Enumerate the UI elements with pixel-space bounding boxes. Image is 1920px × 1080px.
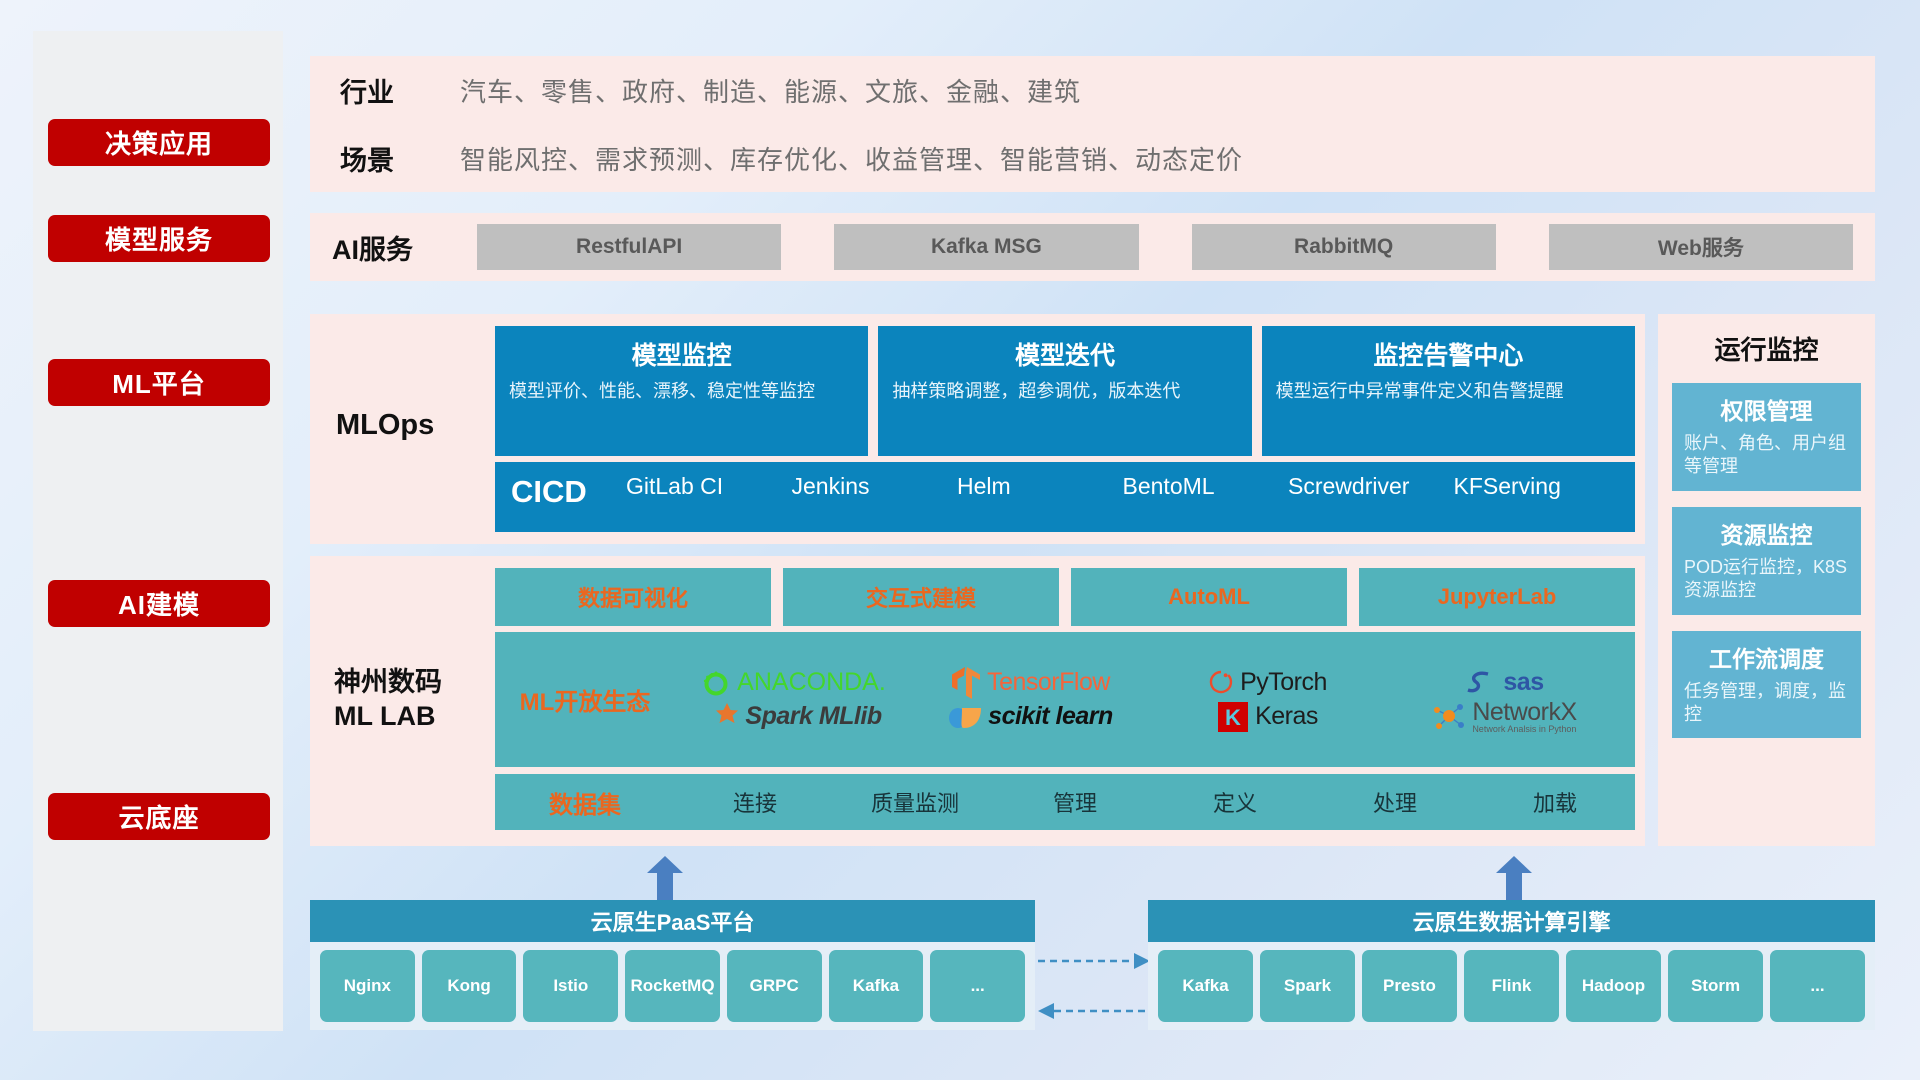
scikit-learn-label: scikit learn (988, 702, 1113, 731)
dataset-item-process[interactable]: 处理 (1315, 786, 1475, 818)
compute-chip-kafka[interactable]: Kafka (1158, 950, 1253, 1022)
keras-label: Keras (1255, 702, 1318, 731)
cloud-native-compute-title: 云原生数据计算引擎 (1148, 900, 1875, 942)
cloud-chip-nginx[interactable]: Nginx (320, 950, 415, 1022)
cloud-native-paas-group: 云原生PaaS平台 Nginx Kong Istio RocketMQ GRPC… (310, 900, 1035, 1030)
dataset-item-define[interactable]: 定义 (1155, 786, 1315, 818)
cloud-native-compute-group: 云原生数据计算引擎 Kafka Spark Presto Flink Hadoo… (1148, 900, 1875, 1030)
stage-chip-model-service[interactable]: 模型服务 (48, 215, 270, 262)
cloud-chip-kong[interactable]: Kong (422, 950, 517, 1022)
compute-chip-storm[interactable]: Storm (1668, 950, 1763, 1022)
compute-chip-spark[interactable]: Spark (1260, 950, 1355, 1022)
anaconda-label: ANACONDA. (737, 668, 886, 697)
card-title: 资源监控 (1684, 516, 1849, 550)
ml-lab-label-line1: 神州数码 (334, 666, 494, 700)
monitor-card-permission[interactable]: 权限管理 账户、角色、用户组等管理 (1672, 383, 1861, 491)
runtime-monitor-column: 运行监控 权限管理 账户、角色、用户组等管理 资源监控 POD运行监控，K8S资… (1658, 314, 1875, 846)
connector-arrow-left (1038, 1000, 1150, 1022)
card-desc: 抽样策略调整，超参调优，版本迭代 (892, 379, 1237, 403)
stage-rail (33, 31, 283, 1031)
tool-chip-jupyterlab[interactable]: JupyterLab (1359, 568, 1635, 626)
spark-mllib-label: Spark MLlib (745, 702, 881, 731)
card-title: 工作流调度 (1684, 640, 1849, 674)
cloud-chip-grpc[interactable]: GRPC (727, 950, 822, 1022)
ai-service-chip-restfulapi[interactable]: RestfulAPI (477, 224, 781, 270)
ml-lab-label-line2: ML LAB (334, 700, 494, 734)
pytorch-label: PyTorch (1240, 668, 1327, 697)
pytorch-icon (1208, 668, 1234, 698)
ai-service-band: AI服务 RestfulAPI Kafka MSG RabbitMQ Web服务 (310, 213, 1875, 281)
stage-chip-decision-app[interactable]: 决策应用 (48, 119, 270, 166)
stage-chip-ml-platform[interactable]: ML平台 (48, 359, 270, 406)
cicd-bar: CICD GitLab CI Jenkins Helm BentoML Scre… (495, 462, 1635, 532)
dataset-item-manage[interactable]: 管理 (995, 786, 1155, 818)
tensorflow-icon (951, 666, 981, 700)
cicd-item-screwdriver[interactable]: Screwdriver (1288, 474, 1454, 499)
runtime-monitor-title: 运行监控 (1658, 314, 1875, 367)
cloud-chip-kafka[interactable]: Kafka (829, 950, 924, 1022)
compute-chip-more[interactable]: ... (1770, 950, 1865, 1022)
networkx-label: NetworkX (1472, 700, 1576, 725)
cicd-item-kfserving[interactable]: KFServing (1454, 474, 1620, 499)
mlops-card-model-iteration[interactable]: 模型迭代 抽样策略调整，超参调优，版本迭代 (878, 326, 1251, 456)
dataset-bar: 数据集 连接 质量监测 管理 定义 处理 加载 (495, 774, 1635, 830)
scenario-values: 智能风控、需求预测、库存优化、收益管理、智能营销、动态定价 (460, 140, 1243, 177)
tool-chip-data-visualization[interactable]: 数据可视化 (495, 568, 771, 626)
card-title: 模型迭代 (892, 336, 1237, 372)
scenario-row: 场景 智能风控、需求预测、库存优化、收益管理、智能营销、动态定价 (310, 124, 1875, 192)
card-desc: 账户、角色、用户组等管理 (1684, 432, 1849, 479)
mlops-card-model-monitoring[interactable]: 模型监控 模型评价、性能、漂移、稳定性等监控 (495, 326, 868, 456)
pytorch-logo: PyTorch (1208, 668, 1327, 698)
mlops-band: MLOps 模型监控 模型评价、性能、漂移、稳定性等监控 模型迭代 抽样策略调整… (310, 314, 1645, 544)
tensorflow-label: TensorFlow (987, 668, 1110, 697)
cloud-chip-rocketmq[interactable]: RocketMQ (625, 950, 720, 1022)
anaconda-icon (701, 668, 731, 698)
ai-service-label: AI服务 (332, 228, 477, 267)
stage-label: 云底座 (118, 798, 199, 835)
tool-chip-interactive-modeling[interactable]: 交互式建模 (783, 568, 1059, 626)
cicd-item-helm[interactable]: Helm (957, 474, 1123, 499)
dataset-item-load[interactable]: 加载 (1475, 786, 1635, 818)
industry-scenario-band: 行业 汽车、零售、政府、制造、能源、文旅、金融、建筑 场景 智能风控、需求预测、… (310, 56, 1875, 192)
networkx-sublabel: Network Analsis in Python (1472, 725, 1576, 734)
dataset-title: 数据集 (495, 785, 675, 820)
keras-logo: K Keras (1217, 701, 1318, 733)
stage-label: AI建模 (118, 585, 200, 622)
compute-chip-presto[interactable]: Presto (1362, 950, 1457, 1022)
up-arrow-compute (1496, 856, 1532, 900)
ai-service-chip-rabbitmq[interactable]: RabbitMQ (1192, 224, 1496, 270)
svg-text:K: K (1225, 705, 1241, 730)
up-arrow-paas (647, 856, 683, 900)
cicd-title: CICD (511, 474, 626, 510)
stage-chip-cloud-base[interactable]: 云底座 (48, 793, 270, 840)
dataset-item-quality[interactable]: 质量监测 (835, 786, 995, 818)
cloud-chip-istio[interactable]: Istio (523, 950, 618, 1022)
sas-icon (1465, 668, 1497, 698)
sas-logo: sas (1465, 668, 1543, 698)
card-title: 监控告警中心 (1276, 336, 1621, 372)
ml-lab-band: 神州数码 ML LAB 数据可视化 交互式建模 AutoML JupyterLa… (310, 556, 1645, 846)
anaconda-logo: ANACONDA. (701, 668, 886, 698)
sas-label: sas (1503, 668, 1543, 697)
card-title: 模型监控 (509, 336, 854, 372)
cloud-chip-more[interactable]: ... (930, 950, 1025, 1022)
industry-values: 汽车、零售、政府、制造、能源、文旅、金融、建筑 (460, 72, 1081, 109)
keras-icon: K (1217, 701, 1249, 733)
monitor-card-resource[interactable]: 资源监控 POD运行监控，K8S资源监控 (1672, 507, 1861, 615)
compute-chip-flink[interactable]: Flink (1464, 950, 1559, 1022)
mlops-label: MLOps (336, 409, 486, 442)
tool-chip-automl[interactable]: AutoML (1071, 568, 1347, 626)
tensorflow-logo: TensorFlow (951, 666, 1110, 700)
stage-label: 模型服务 (105, 220, 213, 257)
stage-label: ML平台 (112, 364, 206, 401)
card-title: 权限管理 (1684, 392, 1849, 426)
compute-chip-hadoop[interactable]: Hadoop (1566, 950, 1661, 1022)
stage-chip-ai-modeling[interactable]: AI建模 (48, 580, 270, 627)
ai-service-chip-kafka-msg[interactable]: Kafka MSG (834, 224, 1138, 270)
dataset-item-connect[interactable]: 连接 (675, 786, 835, 818)
cicd-item-bentoml[interactable]: BentoML (1123, 474, 1289, 499)
mlops-card-alert-center[interactable]: 监控告警中心 模型运行中异常事件定义和告警提醒 (1262, 326, 1635, 456)
networkx-icon (1432, 701, 1466, 733)
card-desc: 任务管理，调度，监控 (1684, 680, 1849, 727)
spark-mllib-logo: Spark MLlib (705, 702, 881, 732)
ml-open-ecosystem-title: ML开放生态 (495, 682, 675, 717)
ml-open-ecosystem: ML开放生态 ANACONDA. (495, 632, 1635, 767)
card-desc: 模型运行中异常事件定义和告警提醒 (1276, 379, 1621, 403)
ai-service-chip-web-service[interactable]: Web服务 (1549, 224, 1853, 270)
networkx-logo: NetworkX Network Analsis in Python (1432, 700, 1576, 734)
cloud-native-paas-title: 云原生PaaS平台 (310, 900, 1035, 942)
industry-row: 行业 汽车、零售、政府、制造、能源、文旅、金融、建筑 (310, 56, 1875, 124)
industry-key: 行业 (340, 71, 460, 110)
cicd-item-gitlab-ci[interactable]: GitLab CI (626, 474, 792, 499)
scenario-key: 场景 (340, 139, 460, 178)
spark-icon (705, 702, 739, 732)
card-desc: 模型评价、性能、漂移、稳定性等监控 (509, 379, 854, 403)
scikit-learn-icon (948, 702, 982, 732)
architecture-diagram: 决策应用 模型服务 ML平台 AI建模 云底座 行业 汽车、零售、政府、制造、能… (0, 0, 1920, 1080)
monitor-card-workflow[interactable]: 工作流调度 任务管理，调度，监控 (1672, 631, 1861, 739)
card-desc: POD运行监控，K8S资源监控 (1684, 556, 1849, 603)
ml-lab-label: 神州数码 ML LAB (334, 666, 494, 734)
scikit-learn-logo: scikit learn (948, 702, 1113, 732)
connector-arrow-right (1038, 950, 1150, 972)
cicd-item-jenkins[interactable]: Jenkins (792, 474, 958, 499)
stage-label: 决策应用 (105, 124, 213, 161)
